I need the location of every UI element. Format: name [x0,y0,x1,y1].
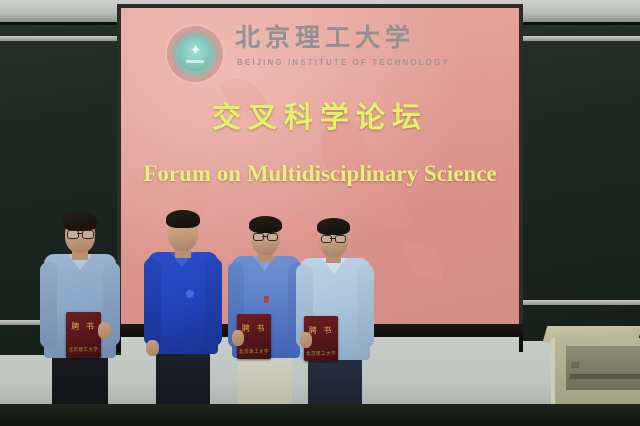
chalkboard-right [519,22,640,341]
person-1-certificate: 聘 书 北京理工大学 [66,312,101,358]
university-name-cn: 北京理工大学 [235,24,415,52]
podium-body [551,338,640,404]
university-emblem-icon: ✦ [165,24,225,84]
person-2-hand [146,340,159,356]
certificate-title: 聘 书 [66,322,101,331]
person-2-chest-logo-icon [186,290,194,298]
slide-title-en: Forum on Multidisciplinary Science [121,160,519,188]
chalk-rail [519,300,640,305]
person-3-chest-logo-icon [264,296,269,303]
certificate-subtitle: 北京理工大学 [66,348,101,353]
podium-cavity [566,346,640,390]
person-3-glasses [267,233,278,241]
person-3-glasses-bridge [262,236,267,237]
person-4-arm-right [357,264,374,348]
university-branding: ✦ 北京理工大学 BEIJING INSTITUTE OF TECHNOLOGY [165,20,485,82]
slide-title-cn: 交叉科学论坛 [121,100,519,134]
person-1-hair [63,212,97,231]
person-4-glasses-bridge [330,238,335,239]
person-1-hand [98,322,111,339]
person-2-arm-right [205,258,222,346]
podium-knob [571,362,579,368]
person-1-arm-left [40,262,57,348]
floor [0,404,640,426]
university-name-en: BEIJING INSTITUTE OF TECHNOLOGY [237,58,450,68]
emblem-inner: ✦ [178,37,212,71]
person-2-hair [166,210,200,228]
ceremony-photograph: ✦ 北京理工大学 BEIJING INSTITUTE OF TECHNOLOGY… [0,0,640,426]
person-3-hair [249,216,282,233]
person-1-glasses [67,230,79,239]
certificate-subtitle: 北京理工大学 [237,350,271,355]
chalk-rail [519,36,640,41]
emblem-base [186,60,204,63]
person-4-glasses [335,235,346,243]
person-3-hand [232,330,244,346]
emblem-glyph: ✦ [178,43,212,58]
person-4-hair [317,218,350,235]
podium-shelf [570,374,640,379]
person-1-glasses-bridge [77,233,82,234]
person-2-arm-left [144,258,161,346]
chalk-rail [0,36,121,41]
person-4-hand [300,332,312,348]
certificate-subtitle: 北京理工大学 [304,352,338,357]
person-1-glasses [82,230,94,239]
